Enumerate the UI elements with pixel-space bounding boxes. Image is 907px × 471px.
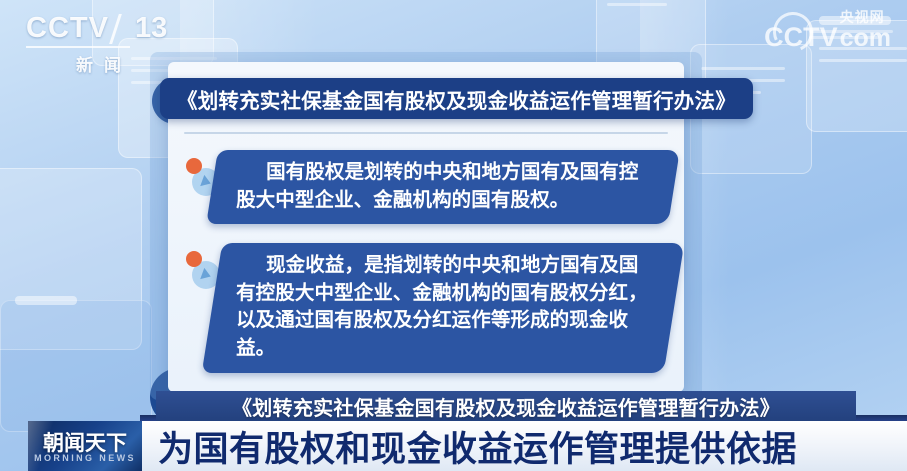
watermark-cn-text: 央视网 [840, 10, 885, 24]
channel-slash-icon [109, 14, 135, 44]
card-title-pill: 《划转充实社保基金国有股权及现金收益运作管理暂行办法》 [160, 78, 753, 119]
background-document-shape [0, 300, 152, 432]
bullet-block: 现金收益，是指划转的中央和地方国有及国有控股大中型企业、金融机构的国有股权分红，… [212, 243, 674, 373]
watermark-cctv-com: CCTV 央视网 com [764, 10, 891, 51]
program-logo: 朝闻天下 MORNING NEWS [28, 421, 142, 471]
lower-third-headline-bar: 为国有股权和现金收益运作管理提供依据 [140, 421, 907, 471]
broadcast-screen: CCTV 13 新闻 CCTV 央视网 com 《划转充实社保基金国有股权及现金… [0, 0, 907, 471]
lower-third-subtitle-text: 《划转充实社保基金国有股权及现金收益运作管理暂行办法》 [232, 392, 780, 421]
channel-network-text: CCTV [26, 12, 109, 45]
program-name-en: MORNING NEWS [34, 453, 136, 463]
lower-third-headline-text: 为国有股权和现金收益运作管理提供依据 [140, 421, 797, 471]
bullet-block: 国有股权是划转的中央和地方国有及国有控股大中型企业、金融机构的国有股权。 [212, 150, 674, 224]
card-title-text: 《划转充实社保基金国有股权及现金收益运作管理暂行办法》 [177, 84, 736, 114]
channel-number-text: 13 [135, 12, 167, 45]
channel-underline [26, 46, 130, 48]
card-divider [184, 132, 668, 134]
lower-third-subtitle-bar: 《划转充实社保基金国有股权及现金收益运作管理暂行办法》 [156, 391, 856, 421]
bullet-text: 现金收益，是指划转的中央和地方国有及国有控股大中型企业、金融机构的国有股权分红，… [236, 252, 656, 363]
watermark-domain-text: com [840, 26, 891, 51]
bullet-text: 国有股权是划转的中央和地方国有及国有控股大中型企业、金融机构的国有股权。 [236, 159, 656, 214]
